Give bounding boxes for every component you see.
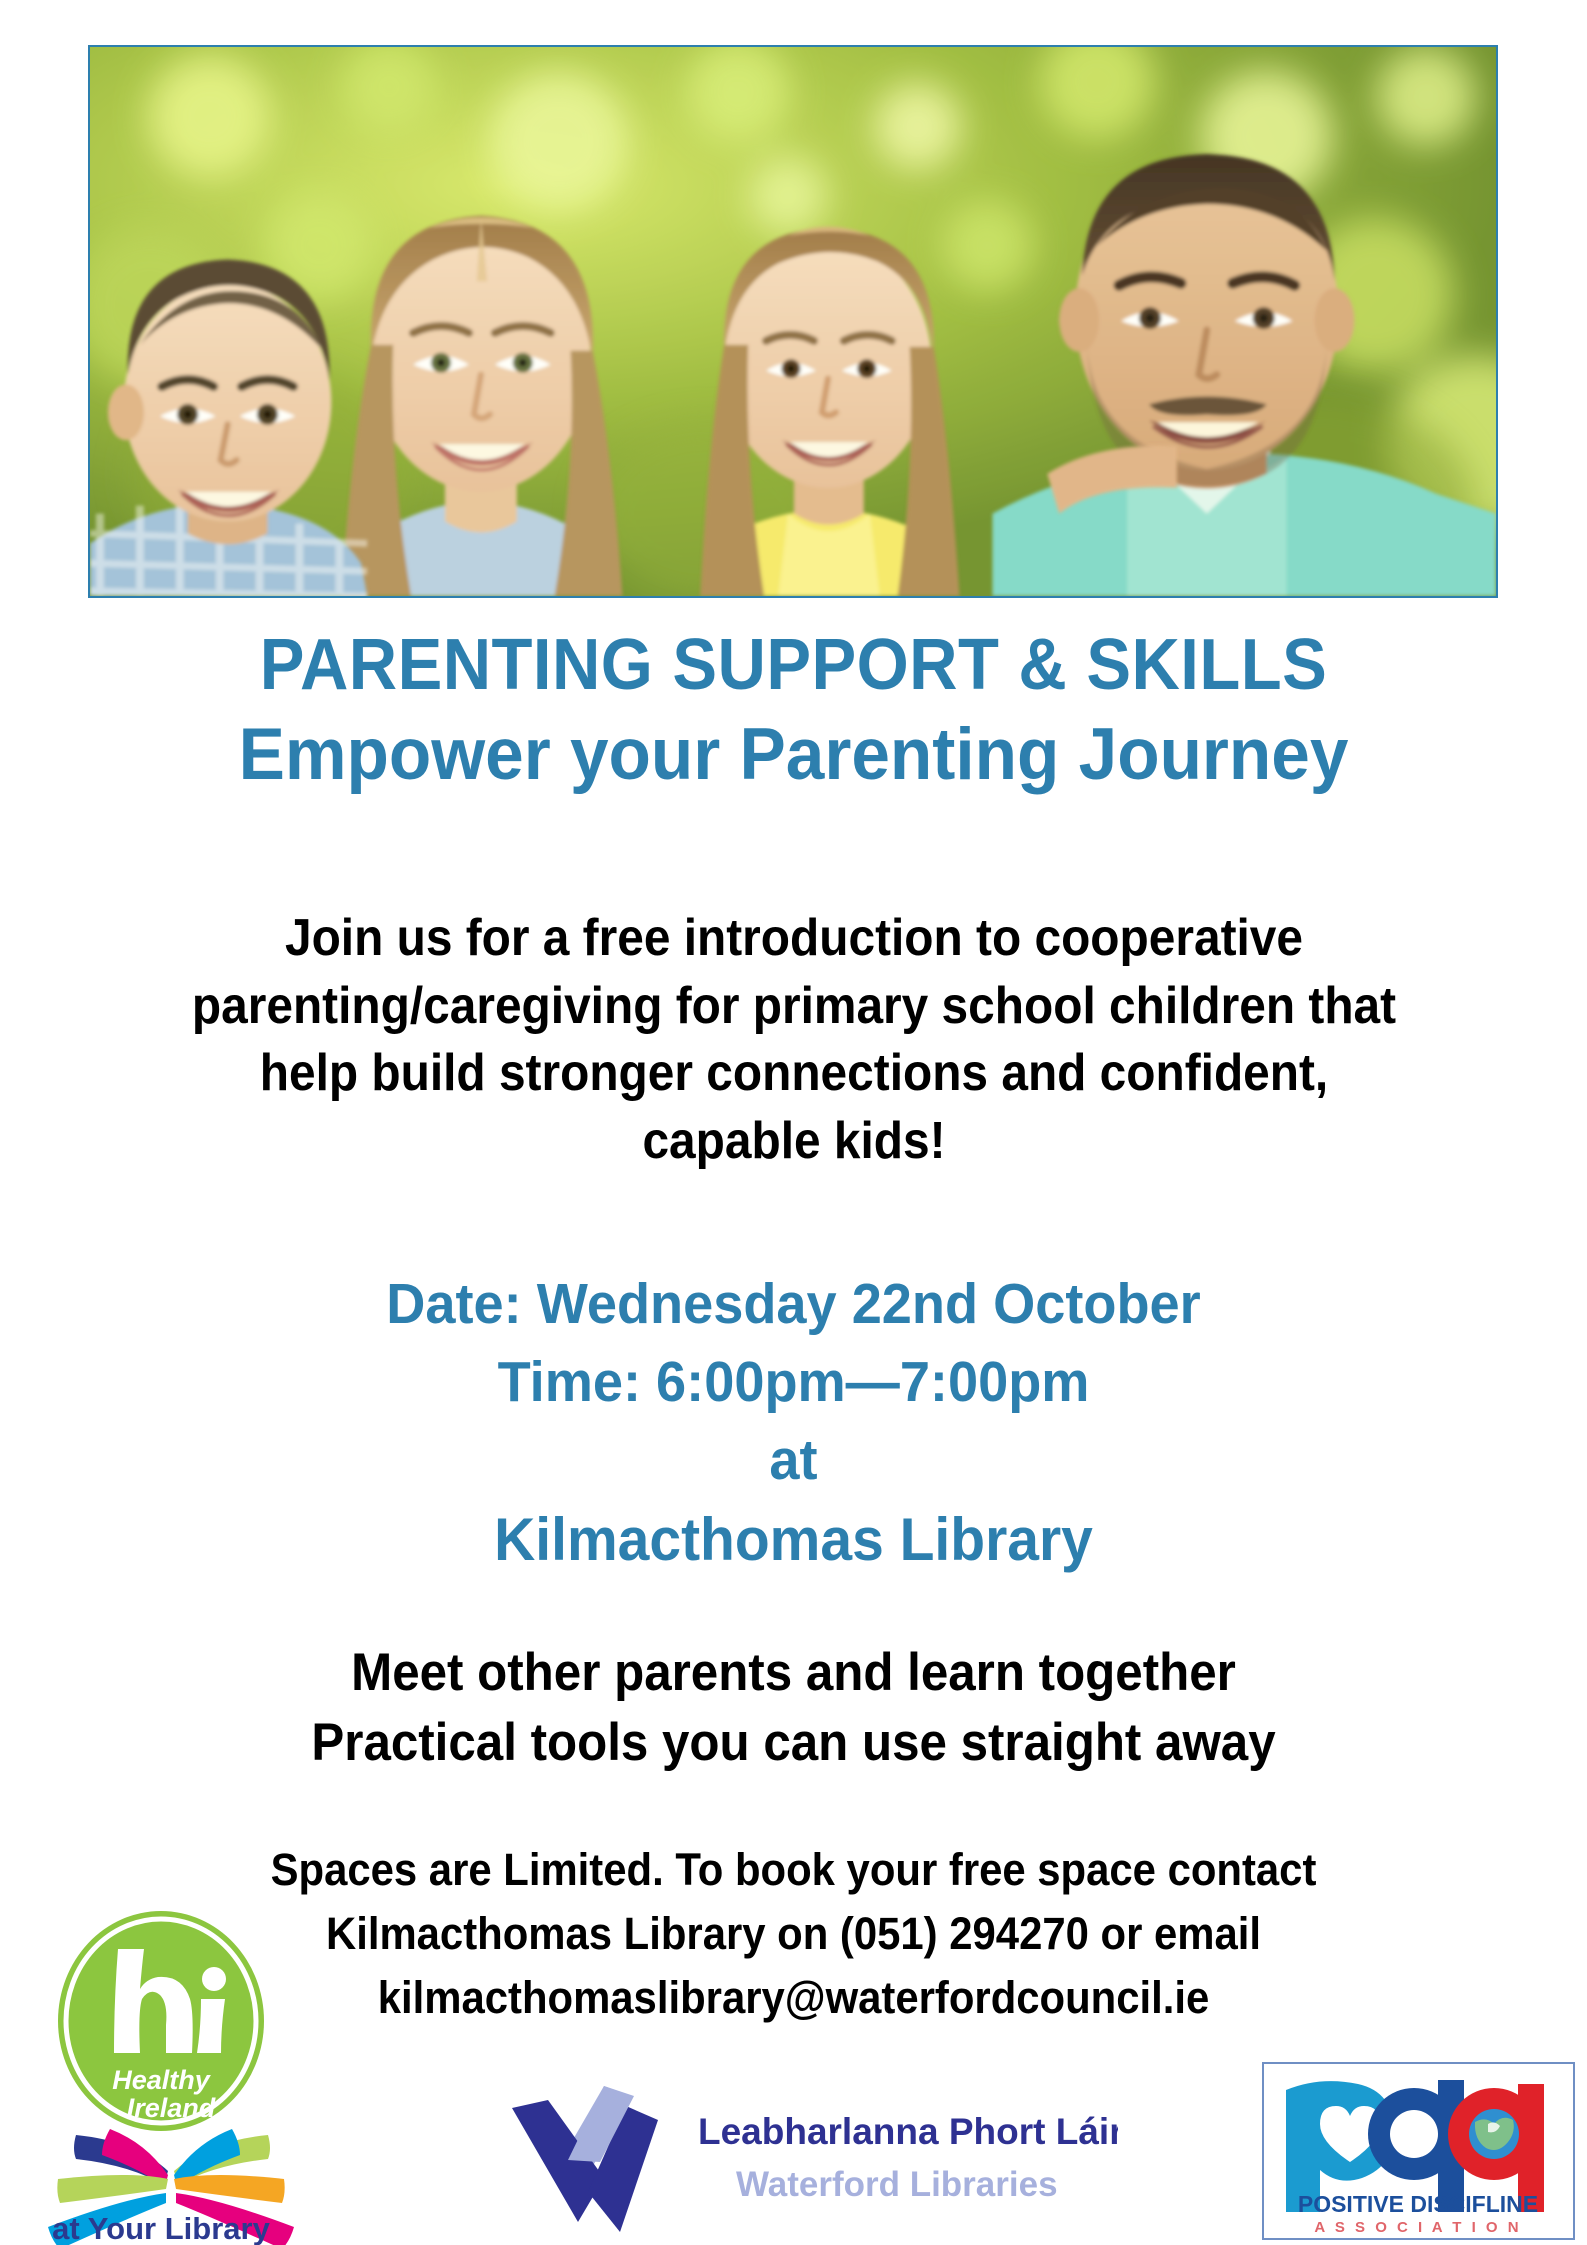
waterford-libraries-line1: Leabharlanna Phort Láirge bbox=[698, 2111, 1118, 2152]
healthy-ireland-line1: Healthy bbox=[112, 2065, 212, 2095]
intro-paragraph: Join us for a free introduction to coope… bbox=[54, 905, 1534, 1175]
page-title: PARENTING SUPPORT & SKILLS bbox=[56, 625, 1532, 706]
poster-canvas: PARENTING SUPPORT & SKILLS Empower your … bbox=[0, 0, 1587, 2245]
event-time: Time: 6:00pm—7:00pm bbox=[40, 1343, 1548, 1421]
intro-line: help build stronger connections and conf… bbox=[113, 1040, 1475, 1108]
pda-line1: POSITIVE DISCIFLINE bbox=[1298, 2191, 1538, 2217]
benefits-list: Meet other parents and learn together Pr… bbox=[0, 1638, 1587, 1779]
intro-line: parenting/caregiving for primary school … bbox=[113, 973, 1475, 1041]
pda-line2: A S S O C I A T I O N bbox=[1314, 2219, 1521, 2236]
at-your-library-tagline: at Your Library bbox=[52, 2211, 270, 2245]
event-details: Date: Wednesday 22nd October Time: 6:00p… bbox=[0, 1265, 1587, 1581]
intro-line: capable kids! bbox=[113, 1108, 1475, 1176]
benefit-line: Practical tools you can use straight awa… bbox=[56, 1708, 1532, 1778]
event-date: Date: Wednesday 22nd October bbox=[40, 1265, 1548, 1343]
waterford-libraries-logo: Leabharlanna Phort Láirge Waterford Libr… bbox=[508, 2082, 1118, 2232]
benefit-line: Meet other parents and learn together bbox=[56, 1638, 1532, 1708]
intro-line: Join us for a free introduction to coope… bbox=[113, 905, 1475, 973]
healthy-ireland-at-your-library-logo: Healthy Ireland at Your Library bbox=[18, 1903, 308, 2245]
page-subtitle: Empower your Parenting Journey bbox=[40, 712, 1548, 798]
family-photo bbox=[88, 45, 1498, 598]
waterford-w-mark bbox=[512, 2086, 658, 2232]
poster-title-block: PARENTING SUPPORT & SKILLS Empower your … bbox=[0, 625, 1587, 798]
booking-line: Spaces are Limited. To book your free sp… bbox=[56, 1838, 1532, 1902]
waterford-libraries-line2: Waterford Libraries bbox=[736, 2165, 1058, 2204]
healthy-ireland-line2: Ireland bbox=[127, 2093, 216, 2123]
positive-discipline-association-logo: POSITIVE DISCIFLINE A S S O C I A T I O … bbox=[1262, 2062, 1575, 2240]
event-venue: Kilmacthomas Library bbox=[40, 1499, 1548, 1581]
event-at-label: at bbox=[40, 1421, 1548, 1499]
